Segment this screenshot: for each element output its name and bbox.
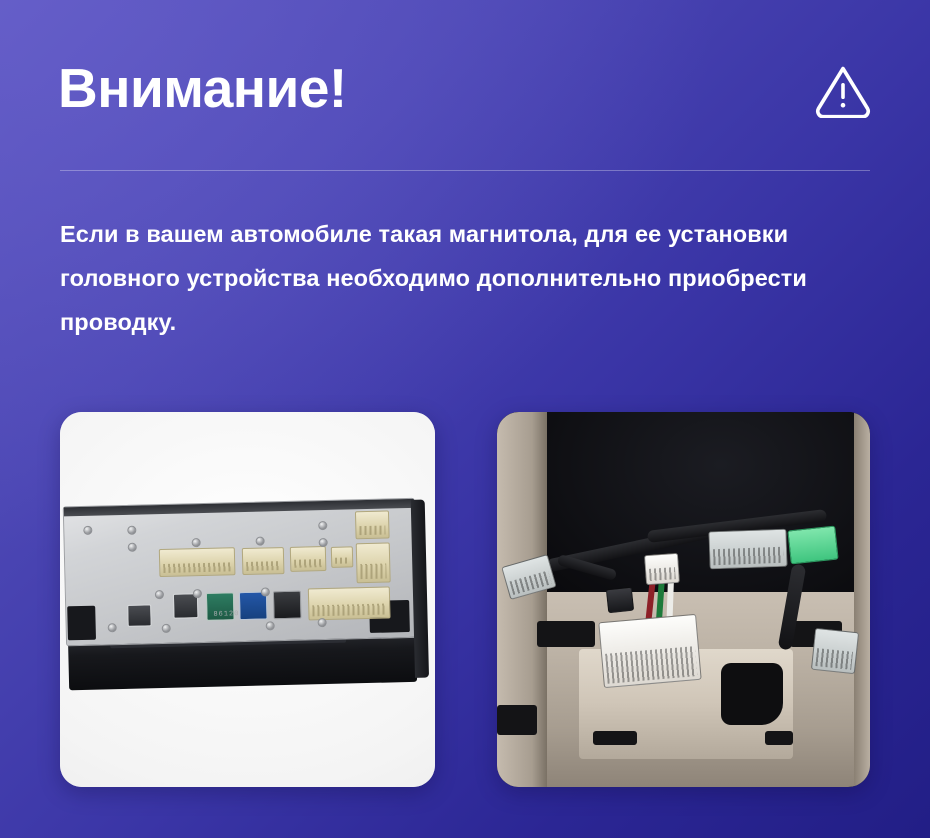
connector-beige-wide (159, 547, 236, 577)
shelf-slot-right (765, 731, 793, 745)
card-wiring-harness (497, 412, 870, 787)
warning-triangle-icon (814, 62, 872, 118)
plug-green (787, 526, 838, 565)
car-head-unit-rear-panel-photo: 86120 (60, 412, 435, 787)
port-black (273, 591, 302, 620)
plug-pins (649, 568, 676, 581)
chassis-right-flank (411, 500, 429, 678)
card-head-unit: 86120 (60, 412, 435, 787)
header-divider (60, 170, 870, 171)
body-text: Если в вашем автомобиле такая магнитола,… (60, 212, 878, 344)
plug-white-large (598, 614, 701, 688)
warning-slide: Внимание! Если в вашем автомобиле такая … (0, 0, 930, 838)
connector-beige-bottom-wide (308, 586, 391, 620)
connector-beige-small-a (290, 546, 327, 572)
shelf-cutout (721, 663, 783, 725)
slide-header: Внимание! (58, 52, 872, 138)
connector-beige-small-b (331, 546, 354, 568)
plug-pins (815, 648, 853, 669)
photo-card-group: 86120 (60, 412, 870, 787)
shelf-slot-left (593, 731, 637, 745)
dashboard-wiring-harness-photo (497, 412, 870, 787)
chassis-left-notch (67, 606, 96, 641)
connector-beige-mid (242, 547, 285, 575)
plug-pins (713, 547, 784, 565)
etched-part-label: 86120 (213, 610, 239, 619)
dashboard-vent-slot-lower (497, 705, 537, 735)
dashboard-right-pillar (854, 412, 870, 787)
plug-black-small (606, 587, 634, 614)
plug-grey-wide-top (708, 529, 787, 570)
connector-beige-corner-top (355, 510, 390, 539)
plug-grey-right (811, 628, 859, 674)
dashboard-vent-slot-left (537, 621, 595, 647)
plug-pins (605, 646, 697, 684)
plug-white-mid (644, 553, 680, 585)
page-title: Внимание! (58, 52, 872, 124)
port-antenna (127, 604, 152, 627)
head-unit-body: 86120 (63, 498, 428, 697)
connector-beige-corner-mid (356, 542, 391, 583)
